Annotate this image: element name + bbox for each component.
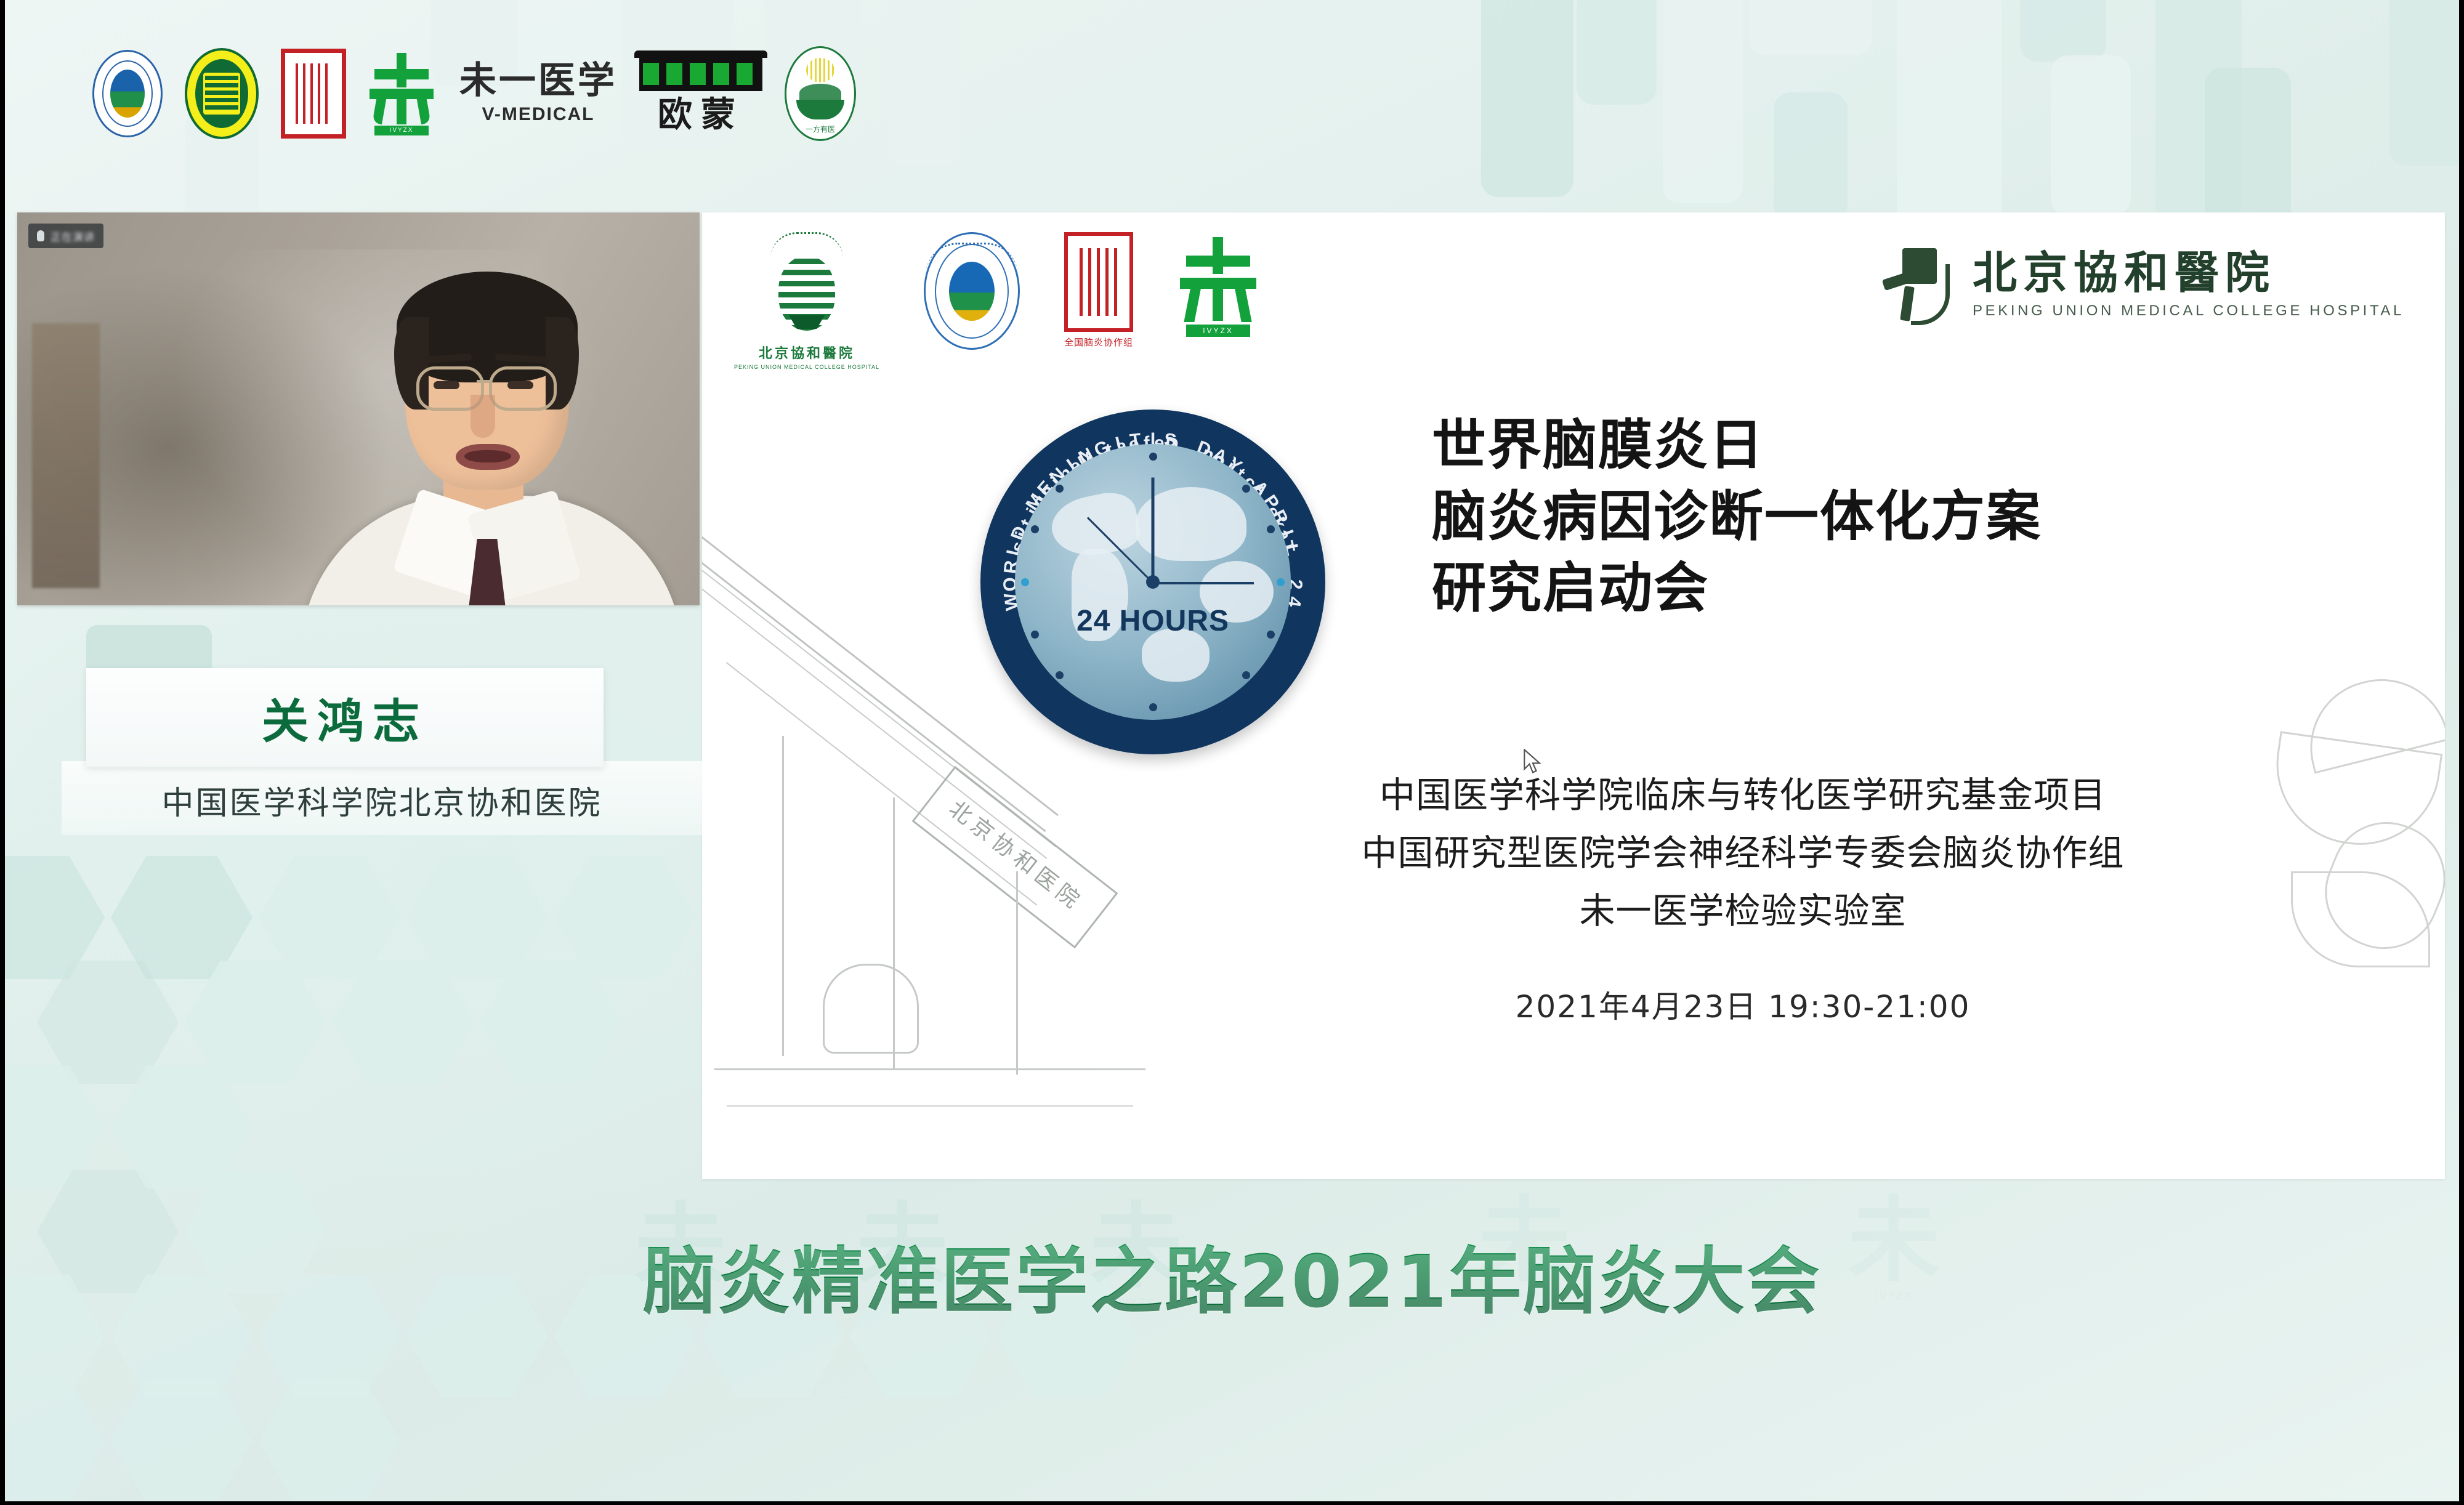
header-logo-strip: IVYZX 未一医学 V-MEDICAL 欧蒙 一方有医 xyxy=(92,46,856,141)
slide-datetime: 2021年4月23日 19:30-21:00 xyxy=(1096,982,2389,1027)
red-seal-icon xyxy=(281,49,346,139)
slide-title: 世界脑膜炎日 脑炎病因诊断一体化方案 研究启动会 xyxy=(1432,410,2042,624)
weiyi-slide-label: IVYZX xyxy=(1186,325,1250,337)
letterbox-bottom xyxy=(0,1501,2464,1505)
letterbox-left xyxy=(0,0,5,1505)
bottom-banner: 脑炎精准医学之路2021年脑炎大会 xyxy=(0,1204,2464,1346)
crha-seal-icon xyxy=(924,232,1020,350)
pumch-hospital-logo: 北京協和醫院 PEKING UNION MEDICAL COLLEGE HOSP… xyxy=(1883,248,2404,322)
mouse-cursor-icon xyxy=(1522,749,1543,776)
cma-seal-icon xyxy=(92,50,163,137)
slide-title-line-3: 研究启动会 xyxy=(1432,552,2042,624)
yifangyuan-logo: 一方有医 xyxy=(785,46,856,141)
pumch-en-label: PEKING UNION MEDICAL COLLEGE HOSPITAL xyxy=(1973,302,2404,320)
presentation-screen: 未 IVYZX 未 IVYZX 未 IVYZX 未 IVYZX 未 IVYZX xyxy=(0,0,2464,1505)
pumch-mark-icon xyxy=(1883,248,1952,322)
video-participant-badge: 正在演讲 xyxy=(28,224,103,248)
speaker-name: 关鸿志 xyxy=(262,684,428,751)
oumeng-logo: 欧蒙 xyxy=(639,55,762,132)
weiyi-mark-icon: IVYZX xyxy=(368,50,435,137)
video-badge-label: 正在演讲 xyxy=(50,228,95,244)
pumc-seal-icon: 北京協和醫院 PEKING UNION MEDICAL COLLEGE HOSP… xyxy=(734,232,879,370)
letterbox-right xyxy=(2459,0,2464,1505)
slide-subtitle-line-1: 中国医学科学院临床与转化医学研究基金项目 xyxy=(1096,767,2389,825)
banner-title: 脑炎精准医学之路2021年脑炎大会 xyxy=(643,1222,1821,1328)
emblem-globe: 24 HOURS xyxy=(1015,444,1291,720)
speaker-nameplate: 关鸿志 xyxy=(86,668,604,767)
emblem-center-label: 24 HOURS xyxy=(1015,604,1291,638)
vmedical-cn-label: 未一医学 xyxy=(459,62,617,99)
pumch-cn-label: 北京協和醫院 xyxy=(1973,251,2404,295)
slide-subtitle: 中国医学科学院临床与转化医学研究基金项目 中国研究型医院学会神经科学专委会脑炎协… xyxy=(1096,767,2389,940)
weiyi-mark-slide-icon: IVYZX xyxy=(1177,232,1258,343)
national-seal-caption: 全国脑炎协作组 xyxy=(1064,336,1133,349)
slide-title-line-2: 脑炎病因诊断一体化方案 xyxy=(1432,481,2042,552)
weiyi-mark-label: IVYZX xyxy=(374,126,429,135)
presentation-slide[interactable]: 北京協和醫院 PEKING UNION MEDICAL COLLEGE HOSP… xyxy=(702,212,2445,1179)
speaker-affiliation: 中国医学科学院北京协和医院 xyxy=(62,777,702,823)
slide-subtitle-line-3: 未一医学检验实验室 xyxy=(1096,882,2389,940)
microphone-icon xyxy=(37,230,44,241)
national-encephalitis-seal-icon: 全国脑炎协作组 xyxy=(1064,232,1133,349)
vmedical-en-label: V-MEDICAL xyxy=(482,104,595,125)
slide-logo-row: 北京協和醫院 PEKING UNION MEDICAL COLLEGE HOSP… xyxy=(734,232,1258,370)
speaker-video-tile[interactable]: 正在演讲 xyxy=(17,212,700,605)
oumeng-label: 欧蒙 xyxy=(658,97,744,132)
yifangyuan-label: 一方有医 xyxy=(806,124,835,134)
slide-title-line-1: 世界脑膜炎日 xyxy=(1432,410,2042,481)
vmedical-wordmark: 未一医学 V-MEDICAL xyxy=(459,62,617,125)
world-meningitis-day-emblem: WORLD MENINGITIS DAY APRIL 24Take Action… xyxy=(980,410,1325,754)
pumc-seal-en: PEKING UNION MEDICAL COLLEGE HOSPITAL xyxy=(734,364,879,370)
speaker-avatar xyxy=(313,249,658,605)
green-yellow-seal-icon xyxy=(185,48,259,139)
pumc-seal-cn: 北京協和醫院 xyxy=(759,342,855,362)
slide-subtitle-line-2: 中国研究型医院学会神经科学专委会脑炎协作组 xyxy=(1096,825,2389,882)
